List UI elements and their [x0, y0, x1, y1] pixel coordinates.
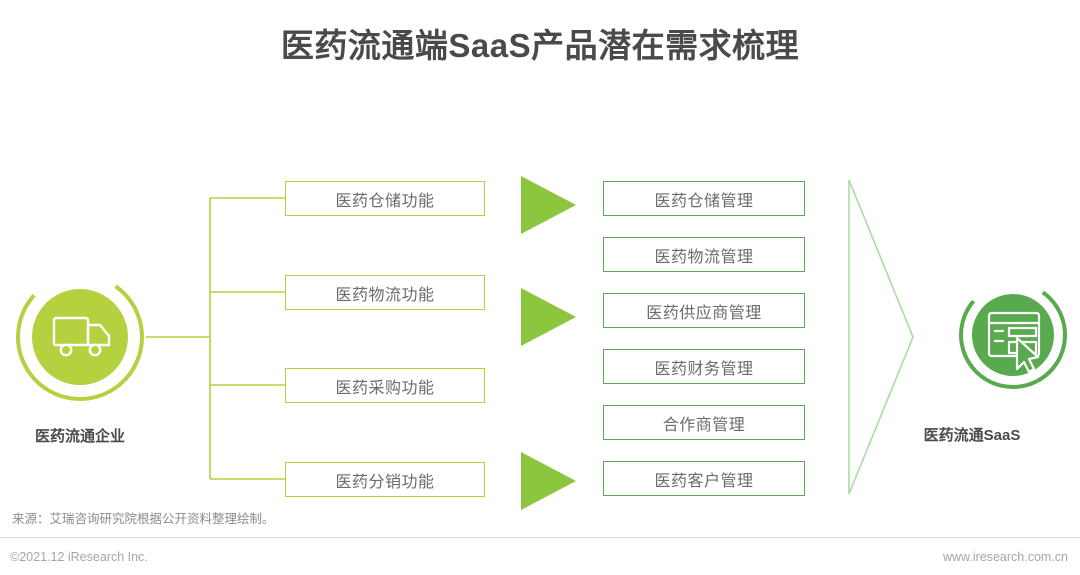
footer-website[interactable]: www.iresearch.com.cn	[943, 550, 1068, 564]
left-node-graphic	[0, 251, 166, 424]
management-box[interactable]: 合作商管理	[603, 405, 805, 440]
function-box[interactable]: 医药仓储功能	[285, 181, 485, 216]
right-node-label: 医药流通SaaS	[862, 424, 1080, 445]
diagram-graphics-layer	[0, 0, 1080, 575]
function-box[interactable]: 医药物流功能	[285, 275, 485, 310]
source-note: 来源：艾瑞咨询研究院根据公开资料整理绘制。	[12, 508, 275, 527]
left-node-label: 医药流通企业	[0, 425, 190, 446]
management-box[interactable]: 医药财务管理	[603, 349, 805, 384]
right-node-graphic	[941, 263, 1080, 408]
footer-divider	[0, 537, 1080, 538]
function-box[interactable]: 医药分销功能	[285, 462, 485, 497]
slide-canvas: 医药流通端SaaS产品潜在需求梳理	[0, 0, 1080, 575]
footer-copyright: ©2021.12 iResearch Inc.	[10, 550, 148, 564]
management-box[interactable]: 医药供应商管理	[603, 293, 805, 328]
management-box[interactable]: 医药客户管理	[603, 461, 805, 496]
management-box[interactable]: 医药仓储管理	[603, 181, 805, 216]
arrow-triangle	[521, 452, 576, 510]
arrow-triangle	[521, 176, 576, 234]
left-node-circle	[32, 289, 128, 385]
arrow-triangles	[521, 176, 576, 510]
funnel-arrow-outline	[849, 180, 913, 494]
management-box[interactable]: 医药物流管理	[603, 237, 805, 272]
function-box[interactable]: 医药采购功能	[285, 368, 485, 403]
arrow-triangle	[521, 288, 576, 346]
